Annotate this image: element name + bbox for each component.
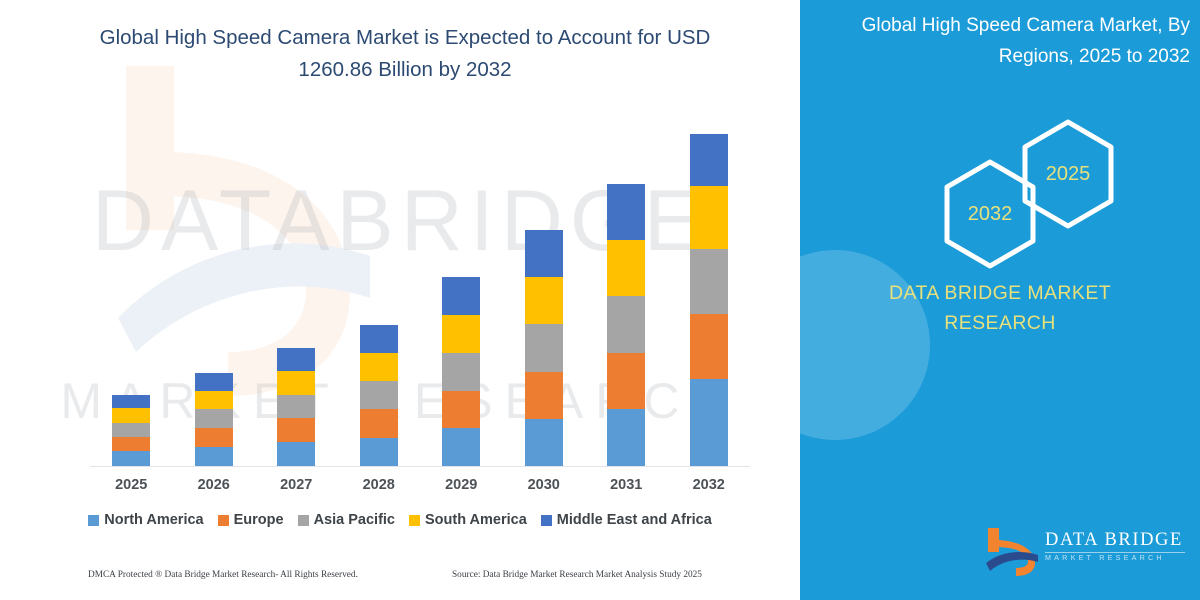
hexagon-group: 2025 2032 <box>800 100 1200 235</box>
bar-2031[interactable] <box>607 184 645 466</box>
segment-europe <box>442 391 480 429</box>
segment-asia-pacific <box>195 409 233 428</box>
segment-asia-pacific <box>607 296 645 353</box>
bar-2028[interactable] <box>360 325 398 466</box>
legend-swatch-icon <box>541 515 552 526</box>
segment-middle-east-and-africa <box>607 184 645 240</box>
legend-swatch-icon <box>218 515 229 526</box>
segment-south-america <box>195 391 233 410</box>
segment-middle-east-and-africa <box>525 230 563 277</box>
segment-middle-east-and-africa <box>277 348 315 371</box>
stacked-bar-chart <box>90 120 750 466</box>
segment-europe <box>277 418 315 442</box>
segment-north-america <box>360 438 398 466</box>
x-label-2031: 2031 <box>591 477 661 493</box>
segment-north-america <box>195 447 233 466</box>
brand-name: DATA BRIDGE MARKET RESEARCH <box>800 278 1200 338</box>
legend-label: Asia Pacific <box>314 512 395 528</box>
segment-europe <box>195 428 233 447</box>
x-label-2028: 2028 <box>344 477 414 493</box>
legend-swatch-icon <box>298 515 309 526</box>
infographic-root: DATABRIDGE MARKET RESEARCH Global High S… <box>0 0 1200 600</box>
side-panel-title: Global High Speed Camera Market, By Regi… <box>820 10 1190 72</box>
chart-title: Global High Speed Camera Market is Expec… <box>60 22 750 86</box>
segment-europe <box>607 353 645 410</box>
segment-middle-east-and-africa <box>195 373 233 391</box>
data-bridge-logo-text: DATA BRIDGE MARKET RESEARCH <box>1045 530 1185 562</box>
segment-north-america <box>112 451 150 466</box>
side-panel: Global High Speed Camera Market, By Regi… <box>800 0 1200 600</box>
segment-north-america <box>277 442 315 466</box>
bar-2029[interactable] <box>442 277 480 466</box>
bar-2025[interactable] <box>112 395 150 466</box>
bar-2026[interactable] <box>195 373 233 466</box>
legend-item-europe[interactable]: Europe <box>218 512 284 528</box>
chart-legend: North AmericaEuropeAsia PacificSouth Ame… <box>0 512 800 528</box>
x-axis-labels: 20252026202720282029203020312032 <box>90 474 750 498</box>
x-label-2027: 2027 <box>261 477 331 493</box>
segment-south-america <box>690 186 728 249</box>
footer: DMCA Protected ® Data Bridge Market Rese… <box>0 566 800 600</box>
legend-label: North America <box>104 512 203 528</box>
segment-north-america <box>690 379 728 466</box>
data-bridge-logo: DATA BRIDGE MARKET RESEARCH <box>985 524 1185 582</box>
hexagon-2032-label: 2032 <box>940 158 1040 270</box>
x-label-2025: 2025 <box>96 477 166 493</box>
footer-source-text: Source: Data Bridge Market Research Mark… <box>452 570 702 580</box>
bar-2032[interactable] <box>690 134 728 466</box>
segment-south-america <box>607 240 645 297</box>
segment-asia-pacific <box>112 423 150 437</box>
segment-middle-east-and-africa <box>112 395 150 409</box>
legend-label: South America <box>425 512 527 528</box>
segment-middle-east-and-africa <box>442 277 480 315</box>
segment-europe <box>690 314 728 379</box>
legend-swatch-icon <box>88 515 99 526</box>
segment-south-america <box>112 408 150 423</box>
segment-south-america <box>442 315 480 353</box>
logo-name: DATA BRIDGE <box>1045 530 1185 551</box>
footer-dmca-text: DMCA Protected ® Data Bridge Market Rese… <box>88 570 358 580</box>
segment-europe <box>525 372 563 419</box>
x-label-2030: 2030 <box>509 477 579 493</box>
segment-asia-pacific <box>442 353 480 391</box>
segment-middle-east-and-africa <box>690 134 728 186</box>
legend-item-asia-pacific[interactable]: Asia Pacific <box>298 512 395 528</box>
x-label-2032: 2032 <box>674 477 744 493</box>
x-label-2026: 2026 <box>179 477 249 493</box>
hexagon-2032: 2032 <box>940 158 1040 270</box>
segment-north-america <box>442 428 480 466</box>
chart-panel: DATABRIDGE MARKET RESEARCH Global High S… <box>0 0 800 600</box>
legend-item-north-america[interactable]: North America <box>88 512 203 528</box>
segment-middle-east-and-africa <box>360 325 398 353</box>
segment-south-america <box>360 353 398 381</box>
segment-south-america <box>277 371 315 395</box>
segment-asia-pacific <box>525 324 563 371</box>
segment-south-america <box>525 277 563 324</box>
brand-line2: RESEARCH <box>800 308 1200 338</box>
legend-item-south-america[interactable]: South America <box>409 512 527 528</box>
bar-2027[interactable] <box>277 348 315 466</box>
logo-tagline: MARKET RESEARCH <box>1045 553 1185 562</box>
segment-europe <box>112 437 150 452</box>
x-label-2029: 2029 <box>426 477 496 493</box>
bar-2030[interactable] <box>525 230 563 466</box>
legend-label: Middle East and Africa <box>557 512 712 528</box>
data-bridge-logo-icon <box>985 526 1039 576</box>
segment-asia-pacific <box>360 381 398 409</box>
segment-asia-pacific <box>690 249 728 314</box>
brand-line1: DATA BRIDGE MARKET <box>800 278 1200 308</box>
legend-swatch-icon <box>409 515 420 526</box>
x-axis-line <box>90 466 750 467</box>
segment-europe <box>360 409 398 437</box>
segment-north-america <box>525 419 563 466</box>
segment-north-america <box>607 409 645 466</box>
segment-asia-pacific <box>277 395 315 418</box>
legend-item-middle-east-and-africa[interactable]: Middle East and Africa <box>541 512 712 528</box>
legend-label: Europe <box>234 512 284 528</box>
